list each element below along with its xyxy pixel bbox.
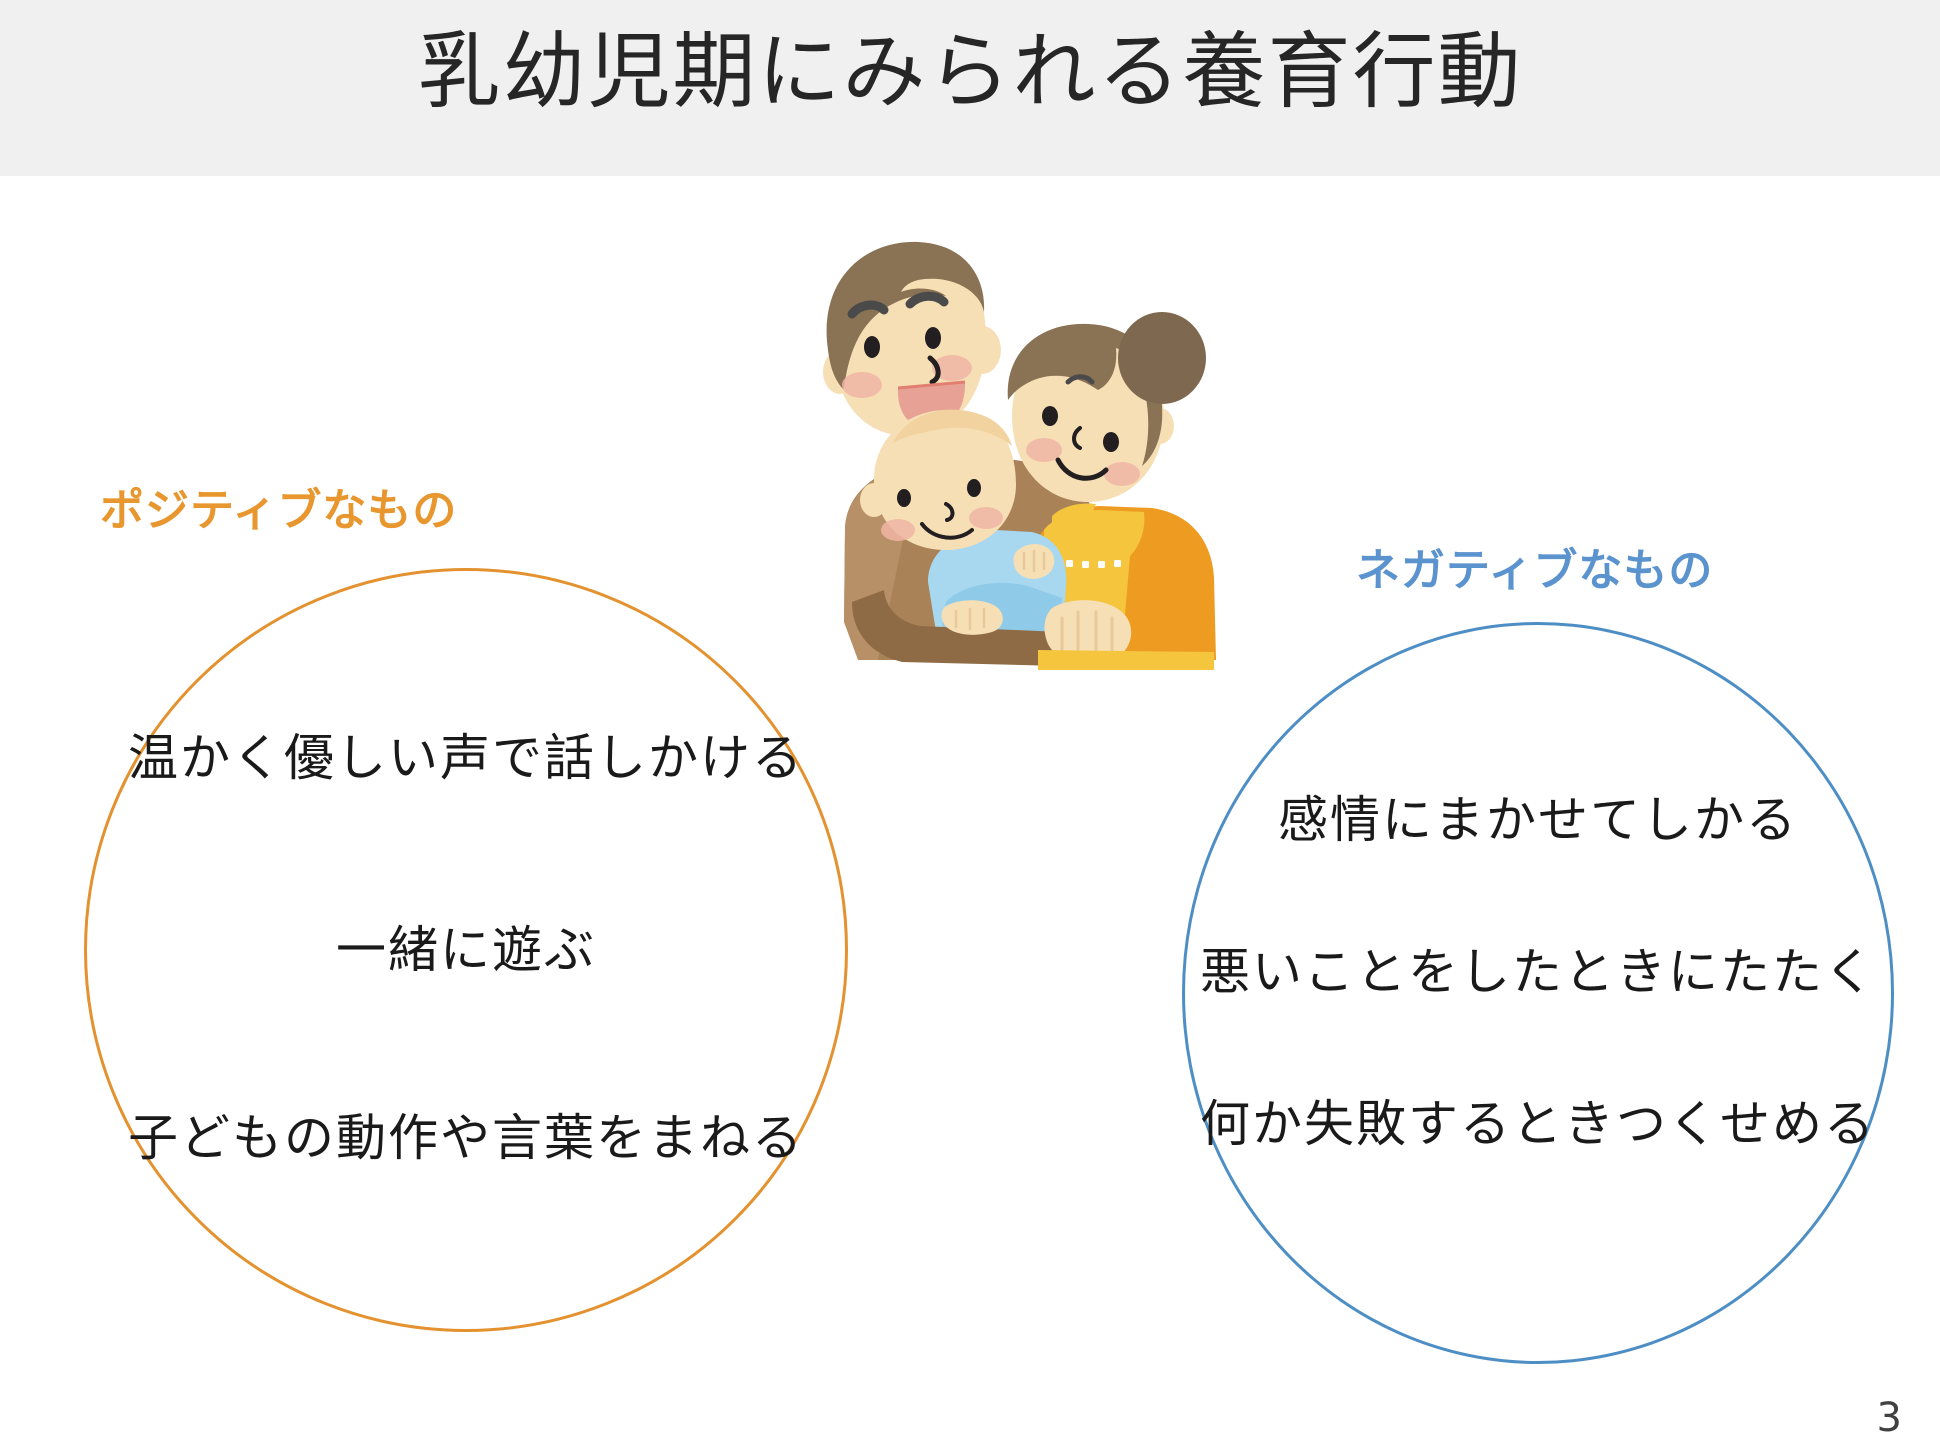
list-item: 温かく優しい声で話しかける bbox=[128, 718, 804, 790]
mother-right-cheek bbox=[1104, 462, 1140, 486]
list-item: 悪いことをしたときにたたく bbox=[1200, 932, 1876, 1004]
mother-left-eye bbox=[1042, 406, 1058, 426]
page-title: 乳幼児期にみられる養育行動 bbox=[0, 20, 1940, 124]
baby-right-eye bbox=[967, 479, 981, 497]
father-left-eye bbox=[864, 336, 880, 358]
positive-group-label: ポジティブなもの bbox=[100, 474, 457, 538]
father-hand bbox=[942, 600, 1003, 635]
father-left-cheek bbox=[842, 372, 882, 398]
list-item: 子どもの動作や言葉をまねる bbox=[128, 1098, 804, 1170]
list-item: 一緒に遊ぶ bbox=[336, 910, 596, 982]
father-right-eye bbox=[925, 327, 941, 349]
slide-canvas: 乳幼児期にみられる養育行動 ポジティブなもの 温かく優しい声で話しかける 一緒に… bbox=[0, 0, 1940, 1455]
negative-items-group: 感情にまかせてしかる 悪いことをしたときにたたく 何か失敗するときつくせめる bbox=[1182, 622, 1894, 1364]
mother-hair-bun bbox=[1118, 312, 1206, 404]
baby-left-eye bbox=[897, 489, 911, 507]
page-number: 3 bbox=[1877, 1395, 1902, 1441]
family-parents-and-baby-illustration bbox=[800, 230, 1220, 750]
positive-items-group: 温かく優しい声で話しかける 一緒に遊ぶ 子どもの動作や言葉をまねる bbox=[84, 568, 848, 1332]
list-item: 感情にまかせてしかる bbox=[1278, 780, 1798, 852]
list-item: 何か失敗するときつくせめる bbox=[1200, 1084, 1876, 1156]
mother-right-eye bbox=[1103, 432, 1119, 452]
baby-right-cheek bbox=[969, 507, 1003, 529]
baby-left-cheek bbox=[881, 519, 915, 541]
mother-dress-hem bbox=[1038, 650, 1214, 670]
negative-group-label: ネガティブなもの bbox=[1356, 534, 1713, 598]
